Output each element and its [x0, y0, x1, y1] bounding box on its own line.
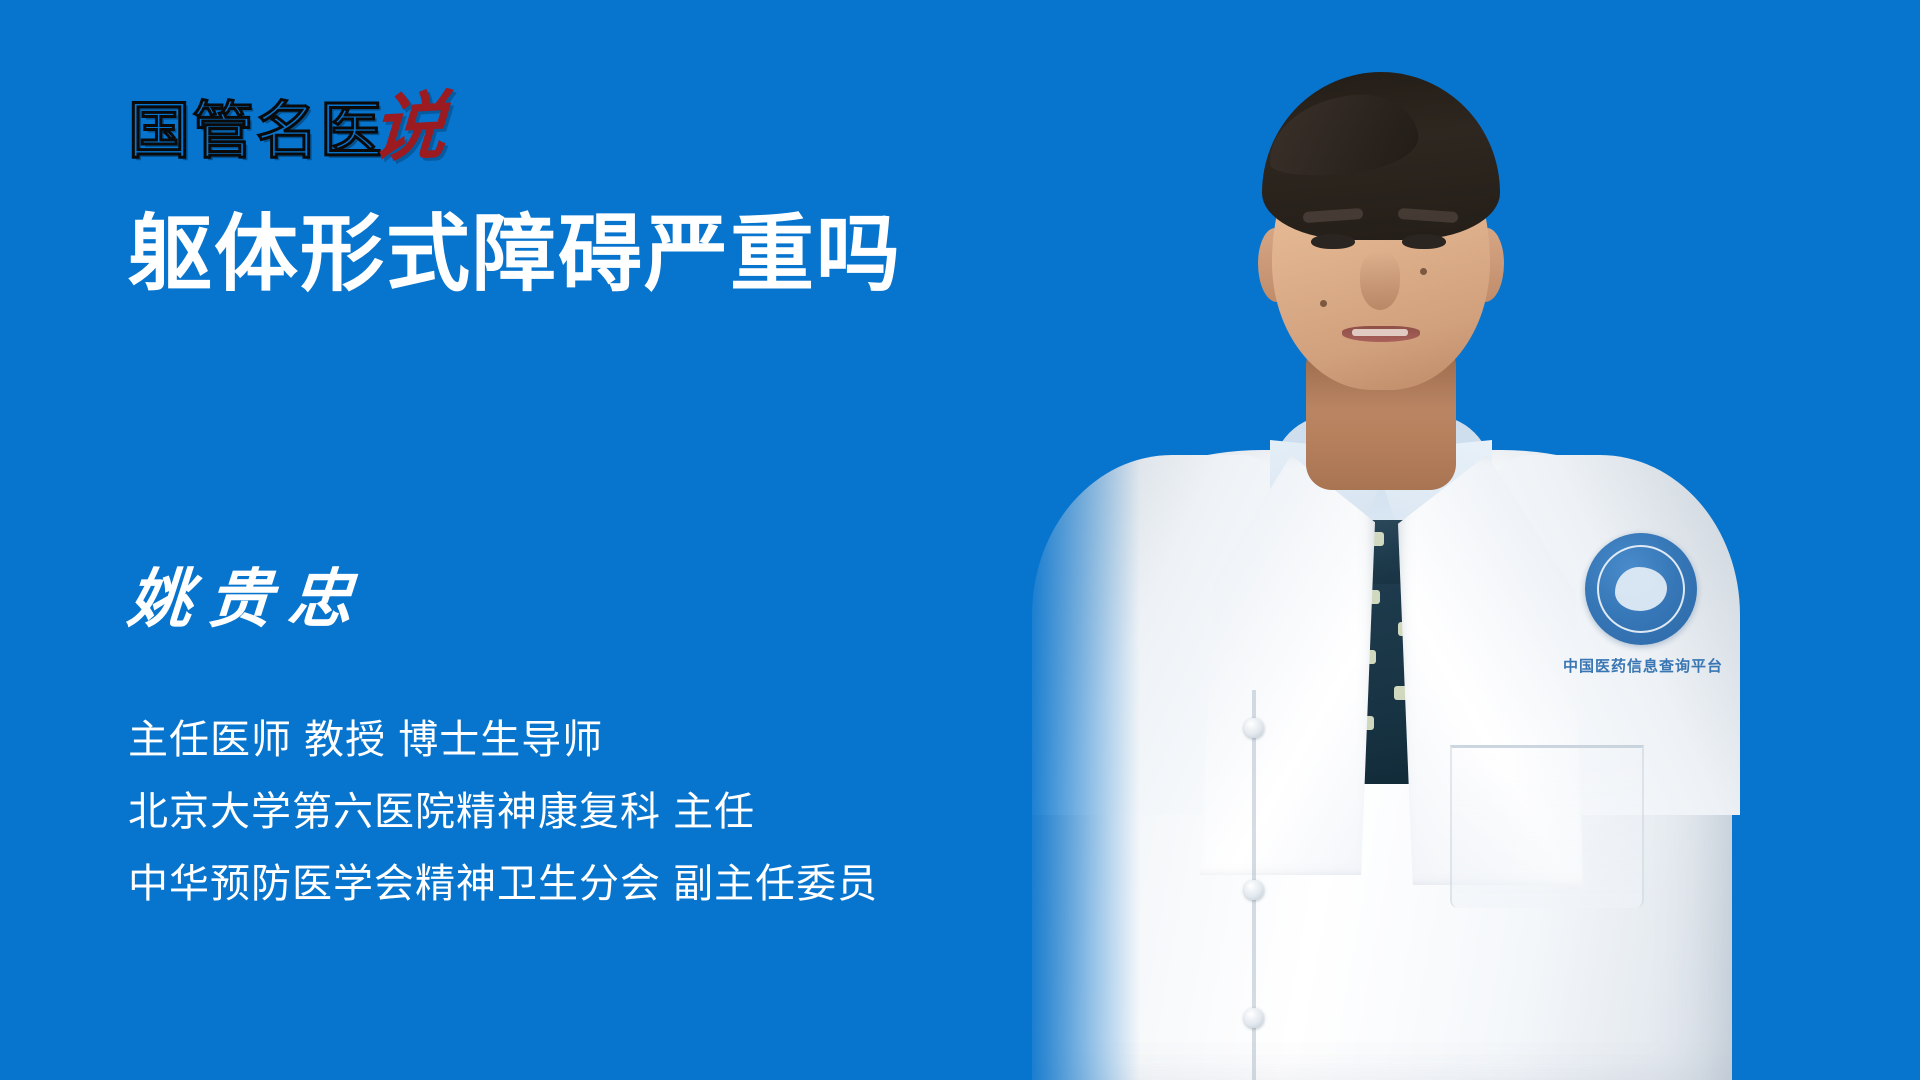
brand-logo-main-text: 国管名医 — [128, 100, 384, 162]
coat-button — [1244, 718, 1264, 738]
doctor-credentials: 主任医师 教授 博士生导师 北京大学第六医院精神康复科 主任 中华预防医学会精神… — [128, 718, 878, 906]
teeth — [1352, 329, 1408, 336]
brand-logo-accent-text: 说 — [370, 89, 448, 167]
platform-badge-label: 中国医药信息查询平台 — [1548, 655, 1738, 676]
doctor-name: 姚贵忠 — [126, 568, 370, 632]
coat-chest-pocket — [1450, 745, 1644, 908]
credential-line: 中华预防医学会精神卫生分会 副主任委员 — [128, 862, 878, 906]
eye-right — [1402, 234, 1446, 249]
facial-mole — [1420, 268, 1427, 275]
credential-line: 主任医师 教授 博士生导师 — [128, 718, 878, 762]
page-title: 躯体形式障碍严重吗 — [128, 205, 902, 304]
platform-badge-icon — [1585, 533, 1697, 645]
facial-mole — [1320, 300, 1327, 307]
credential-line: 北京大学第六医院精神康复科 主任 — [128, 790, 878, 834]
nose — [1360, 252, 1400, 310]
coat-button — [1244, 1008, 1264, 1028]
video-cover-slide: 中国医药信息查询平台 国管名医 说 躯体形式障碍严重吗 姚贵忠 主任医师 教授 … — [0, 0, 1920, 1080]
text-column: 国管名医 说 躯体形式障碍严重吗 姚贵忠 主任医师 教授 博士生导师 北京大学第… — [0, 0, 1100, 1080]
badge-inner-ring — [1597, 545, 1685, 633]
brand-logo: 国管名医 说 — [128, 88, 446, 174]
doctor-portrait: 中国医药信息查询平台 — [1020, 0, 1920, 1080]
coat-button — [1244, 880, 1264, 900]
badge-map-emblem — [1615, 567, 1667, 611]
eye-left — [1311, 234, 1355, 249]
